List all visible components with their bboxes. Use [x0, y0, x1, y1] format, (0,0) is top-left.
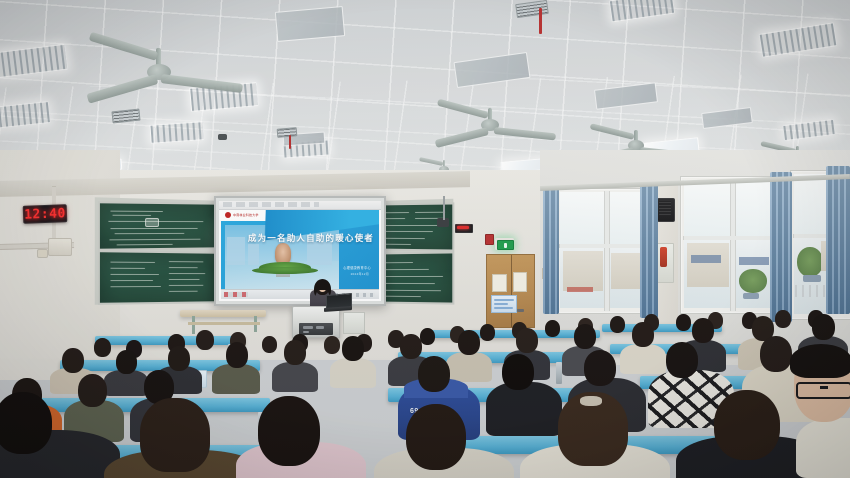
ceiling-fan [440, 108, 558, 148]
photo-building [248, 244, 259, 264]
electrical-junction-box [48, 238, 72, 256]
window-curtain[interactable] [770, 172, 792, 322]
student-head [812, 314, 835, 340]
student-head [196, 330, 214, 350]
door-center-seam [511, 255, 512, 327]
slide-title: 成为一名助人自助的暖心使者 [248, 232, 374, 244]
student-hair [790, 344, 850, 378]
slide-canvas: 中南林业科技大学 2024年度学生心理骨干、班级心理委员培训 ✕ [221, 210, 379, 299]
student-head [692, 318, 714, 343]
chalkboard-left-lower [98, 250, 217, 305]
photo-shrubbery [252, 267, 318, 274]
smoke-detector [218, 134, 227, 140]
ceiling-light-panel [149, 121, 204, 144]
powerpoint-statusbar [221, 289, 379, 299]
led-wall-clock: 12:40 [23, 204, 68, 224]
outside-building [687, 243, 729, 287]
outside-car [803, 275, 821, 282]
hair-tie [580, 396, 602, 406]
student-shoulders [446, 352, 492, 382]
student-head [400, 334, 422, 359]
classroom-door[interactable] [486, 254, 535, 328]
student-shoulders [272, 362, 318, 392]
outside-banner [567, 287, 593, 292]
student-head [480, 324, 495, 341]
statusbar-left-controls [224, 292, 248, 297]
outside-signage [691, 255, 721, 263]
door-handle[interactable] [517, 309, 524, 312]
slide-subtitle-date: 2024年12月 [351, 272, 369, 276]
student-head [775, 310, 791, 328]
student-head [62, 348, 84, 373]
sprinkler-pipe [289, 135, 291, 149]
outside-building [563, 251, 603, 291]
student-head [632, 322, 654, 347]
foreground-student-head [0, 392, 52, 454]
student-head [262, 336, 277, 353]
foreground-student-head [714, 390, 780, 460]
eyeglasses-bridge [820, 386, 828, 389]
ceiling-drop-cable [443, 196, 445, 220]
student-head [666, 342, 698, 378]
av-cabinet [343, 312, 365, 334]
lecture-hall-photo: 12:40 [0, 0, 850, 478]
sprinkler-pipe [539, 8, 542, 34]
student-head [226, 342, 248, 368]
ceiling-air-vent [277, 127, 298, 138]
projection-screen: 中南林业科技大学 2024年度学生心理骨干、班级心理委员培训 ✕ [214, 196, 386, 306]
window-curtain[interactable] [640, 182, 658, 318]
student-head [418, 356, 450, 392]
student-head [342, 336, 364, 361]
foreground-student-shoulders [796, 418, 850, 478]
student-head [78, 374, 107, 407]
wall-led-indicator-glow [457, 226, 469, 229]
student-shoulders [620, 344, 666, 374]
ceiling-fan [95, 48, 245, 104]
door-info-panel [491, 295, 517, 313]
student-head [516, 328, 538, 353]
student-head [502, 354, 534, 390]
outside-signage [739, 257, 769, 265]
outside-tree [797, 247, 823, 277]
ceiling-light-panel [275, 6, 345, 42]
student-head [284, 340, 306, 365]
photo-building [307, 242, 332, 265]
student-head [574, 324, 596, 349]
fire-extinguisher [660, 247, 667, 267]
front-table-shelf [188, 322, 260, 325]
clock-time-display: 12:40 [24, 206, 66, 222]
window-curtain[interactable] [826, 166, 850, 314]
student-shoulders [486, 382, 562, 436]
student-head [420, 328, 435, 345]
foreground-student-head [140, 398, 210, 472]
foreground-student-head [406, 404, 466, 470]
student-head [545, 320, 560, 337]
door-poster [513, 272, 527, 292]
student-shoulders [330, 358, 376, 388]
student-head [168, 346, 190, 371]
student-head [324, 336, 340, 354]
fire-alarm-box [485, 234, 494, 245]
student-head [610, 316, 625, 333]
student-head [584, 350, 616, 386]
foreground-student-head [258, 396, 320, 466]
slide-hero-area: 成为一名助人自助的暖心使者 心理健康教育中心 2024年12月 [221, 221, 379, 299]
slide-subtitle-department: 心理健康教育中心 [343, 265, 371, 270]
wall-switch [37, 249, 48, 258]
exit-sign-glow [495, 238, 514, 250]
outside-tree [739, 269, 767, 293]
student-head [94, 338, 111, 357]
window-curtain[interactable] [543, 186, 559, 314]
door-poster [492, 274, 507, 292]
presentation-slide: 中南林业科技大学 2024年度学生心理骨干、班级心理委员培训 ✕ [219, 201, 381, 301]
student-head [458, 330, 480, 355]
powerpoint-toolbar [219, 201, 381, 210]
speaker-grille [659, 201, 671, 215]
student-head [116, 350, 137, 374]
outside-car [743, 293, 759, 299]
student-shoulders [212, 364, 260, 394]
student-head [760, 336, 792, 372]
lectern-front-panel [299, 323, 333, 335]
ribbon-tabs [223, 202, 319, 207]
eyeglasses [796, 382, 850, 399]
front-table-leg [192, 316, 195, 334]
student-head [676, 314, 691, 331]
chalkboard-left-upper [98, 201, 217, 251]
